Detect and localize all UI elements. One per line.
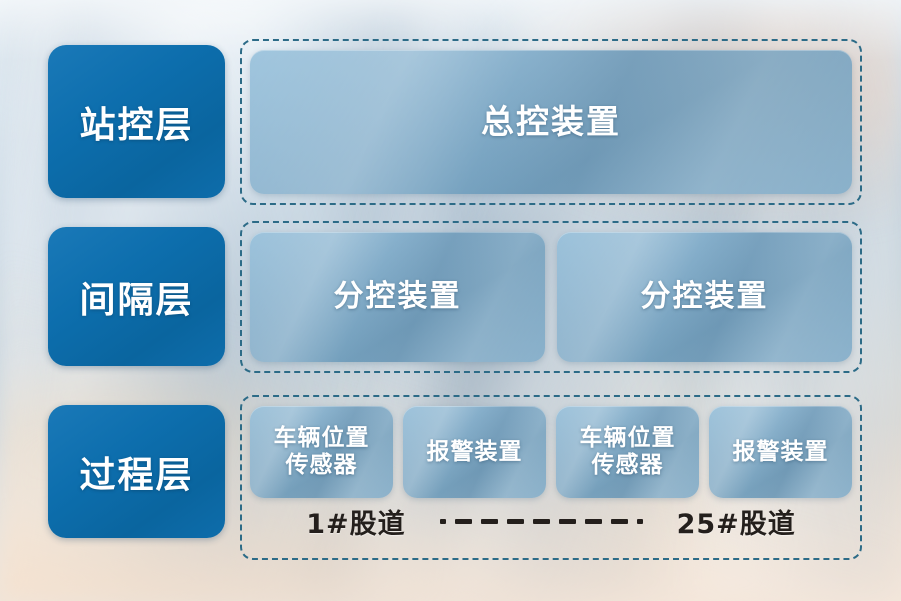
layer-chip-label: 过程层 xyxy=(79,446,193,498)
diagram-canvas: 站控层 总控装置 间隔层 分控装置 xyxy=(0,0,901,601)
layer-chip-label: 间隔层 xyxy=(79,271,193,323)
layer-chip-station[interactable]: 站控层 xyxy=(48,45,225,198)
process-device-row: 车辆位置 传感器 报警装置 车辆位置 传感器 报警装置 xyxy=(250,406,852,498)
track-continuation-dashes xyxy=(436,519,647,524)
layer-chip-bay[interactable]: 间隔层 xyxy=(48,227,225,366)
dashed-group-content: 分控装置 分控装置 xyxy=(242,223,860,371)
device-sub-control-1[interactable]: 分控装置 xyxy=(250,232,545,362)
device-sub-control-2[interactable]: 分控装置 xyxy=(557,232,852,362)
dashed-group-bay: 分控装置 分控装置 xyxy=(240,221,862,373)
layer-rows: 站控层 总控装置 间隔层 分控装置 xyxy=(0,0,901,601)
device-label: 分控装置 xyxy=(334,280,462,315)
track-dash xyxy=(455,519,472,524)
track-dash xyxy=(507,519,524,524)
track-dash xyxy=(611,519,628,524)
track-dash xyxy=(637,519,643,524)
dashed-group-content: 车辆位置 传感器 报警装置 车辆位置 传感器 报警装置 1#股道 xyxy=(242,397,860,558)
device-label: 报警装置 xyxy=(427,439,523,466)
track-dash xyxy=(559,519,576,524)
device-vehicle-position-sensor-1[interactable]: 车辆位置 传感器 xyxy=(250,406,393,498)
track-caption: 1#股道 25#股道 xyxy=(250,498,852,544)
device-label: 车辆位置 传感器 xyxy=(580,425,676,478)
layer-row-station: 站控层 总控装置 xyxy=(0,39,901,205)
device-master-control[interactable]: 总控装置 xyxy=(250,50,852,194)
layer-row-bay: 间隔层 分控装置 分控装置 xyxy=(0,221,901,373)
device-alarm-device-1[interactable]: 报警装置 xyxy=(403,406,546,498)
track-label-first: 1#股道 xyxy=(306,502,405,541)
track-dash xyxy=(585,519,602,524)
dashed-group-content: 总控装置 xyxy=(242,41,860,203)
device-label: 总控装置 xyxy=(481,103,621,141)
dashed-group-station: 总控装置 xyxy=(240,39,862,205)
device-label: 分控装置 xyxy=(641,280,769,315)
device-label: 车辆位置 传感器 xyxy=(274,425,370,478)
layer-row-process: 过程层 车辆位置 传感器 报警装置 车辆位置 传感器 xyxy=(0,395,901,560)
device-alarm-device-2[interactable]: 报警装置 xyxy=(709,406,852,498)
layer-chip-label: 站控层 xyxy=(79,96,193,148)
dashed-group-process: 车辆位置 传感器 报警装置 车辆位置 传感器 报警装置 1#股道 xyxy=(240,395,862,560)
device-label: 报警装置 xyxy=(733,439,829,466)
track-label-last: 25#股道 xyxy=(677,502,796,541)
layer-chip-process[interactable]: 过程层 xyxy=(48,405,225,538)
track-dash xyxy=(533,519,550,524)
track-dash xyxy=(481,519,498,524)
device-vehicle-position-sensor-2[interactable]: 车辆位置 传感器 xyxy=(556,406,699,498)
track-dash xyxy=(440,519,446,524)
